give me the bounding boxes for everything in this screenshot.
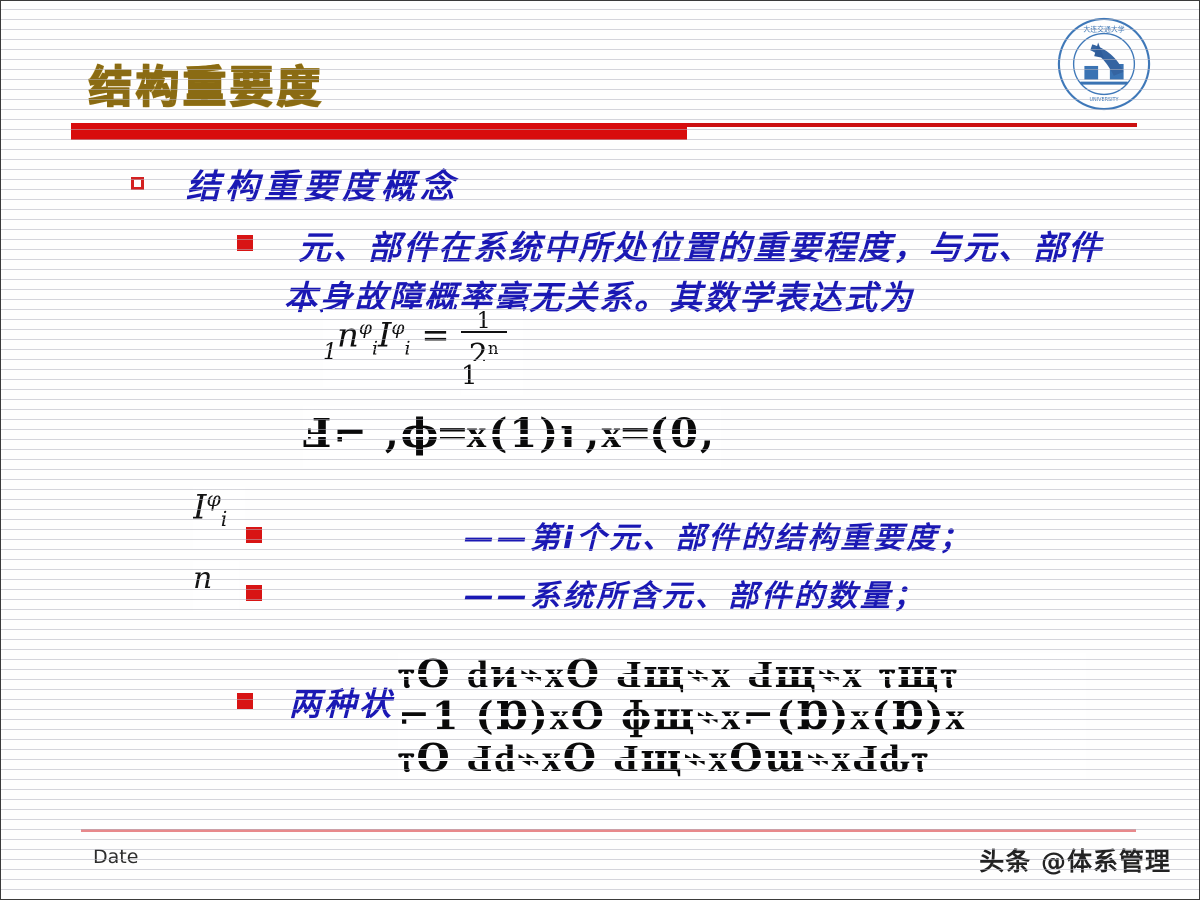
symbol1-base: I (193, 487, 206, 527)
formula1-phi-b: φ (391, 318, 404, 339)
heading-label: 结构重要度概念 (186, 159, 459, 208)
paragraph-text: 元、部件在系统中所处位置的重要程度，与元、部件本身故障概率毫无关系。其数学表达式… (284, 223, 1112, 323)
bullet-3-text: 两种状 (289, 679, 394, 725)
slide-title: 结构重要度 (89, 53, 324, 115)
solid-square-bullet-icon (237, 235, 253, 251)
garbled-row: Ⅎ⌐ ,ϕ═ӿ(1)ͱ,ӿ═(0, (303, 410, 721, 457)
solid-square-bullet-icon (246, 585, 262, 601)
symbol2-base: n (193, 561, 212, 596)
svg-text:大连交通大学: 大连交通大学 (1083, 25, 1124, 34)
formula1-I: I (378, 316, 391, 356)
definition-row-2: ——系统所含元、部件的数量； (246, 571, 926, 615)
footer-date-label: Date (93, 846, 138, 868)
garbled-row: ⲧO ԁͷ⌁ӿO Ԁщ⌁ӿ Ԁщ⌁ӿ ⲧщⲧ (398, 653, 1086, 695)
title-underline-bar (71, 123, 687, 140)
formula1-lead: 1 (323, 340, 337, 365)
symbol-structural-importance: Iφi (193, 487, 245, 549)
hollow-square-bullet-icon (131, 177, 144, 190)
formula-fragment-three-garbled: ⲧO ԁͷ⌁ӿO Ԁщ⌁ӿ Ԁщ⌁ӿ ⲧщⲧ ⌐1 (Ɒ)ӿO ɸщ⌁ӿ⌐(Ɒ)… (398, 653, 1086, 779)
university-crest-icon: 大连交通大学 UNIVERSITY (1055, 15, 1153, 113)
svg-text:UNIVERSITY: UNIVERSITY (1089, 97, 1118, 103)
garbled-row: ⲧO Ԁԁ⌁ӿO Ԁщ⌁ӿOɯ⌁ӿԀԃⲧ (398, 737, 1086, 779)
symbol1-sup: φ (206, 487, 220, 511)
formula1-n: n (337, 316, 359, 356)
formula-fragment-one-trailing: 1 (461, 361, 523, 395)
title-underline-rule (687, 123, 1137, 127)
formula1-numerator: 1 (461, 315, 507, 329)
symbol-component-count: n (193, 561, 239, 611)
definition-row-1: ——第i个元、部件的结构重要度； (246, 513, 972, 557)
garbled-row: ⌐1 (Ɒ)ӿO ɸщ⌁ӿ⌐(Ɒ)ӿ(Ɒ)ӿ (398, 695, 1086, 737)
footer-divider (81, 829, 1136, 832)
symbol1-sub: i (221, 507, 228, 531)
formula-fragment-two-garbled: Ⅎ⌐ ,ϕ═ӿ(1)ͱ,ӿ═(0, (303, 406, 721, 468)
watermark-label: 头条 @体系管理 (979, 842, 1171, 878)
slide-canvas: 大连交通大学 UNIVERSITY 结构重要度 结构重要度概念 元、部件在系统中… (0, 0, 1200, 900)
solid-square-bullet-icon (237, 693, 253, 709)
definition-2-text: ——系统所含元、部件的数量； (464, 571, 926, 615)
formula1-phi-a: φ (359, 318, 372, 339)
definition-1-text: ——第i个元、部件的结构重要度； (464, 513, 972, 557)
heading-row: 结构重要度概念 (131, 159, 459, 208)
solid-square-bullet-icon (246, 527, 262, 543)
